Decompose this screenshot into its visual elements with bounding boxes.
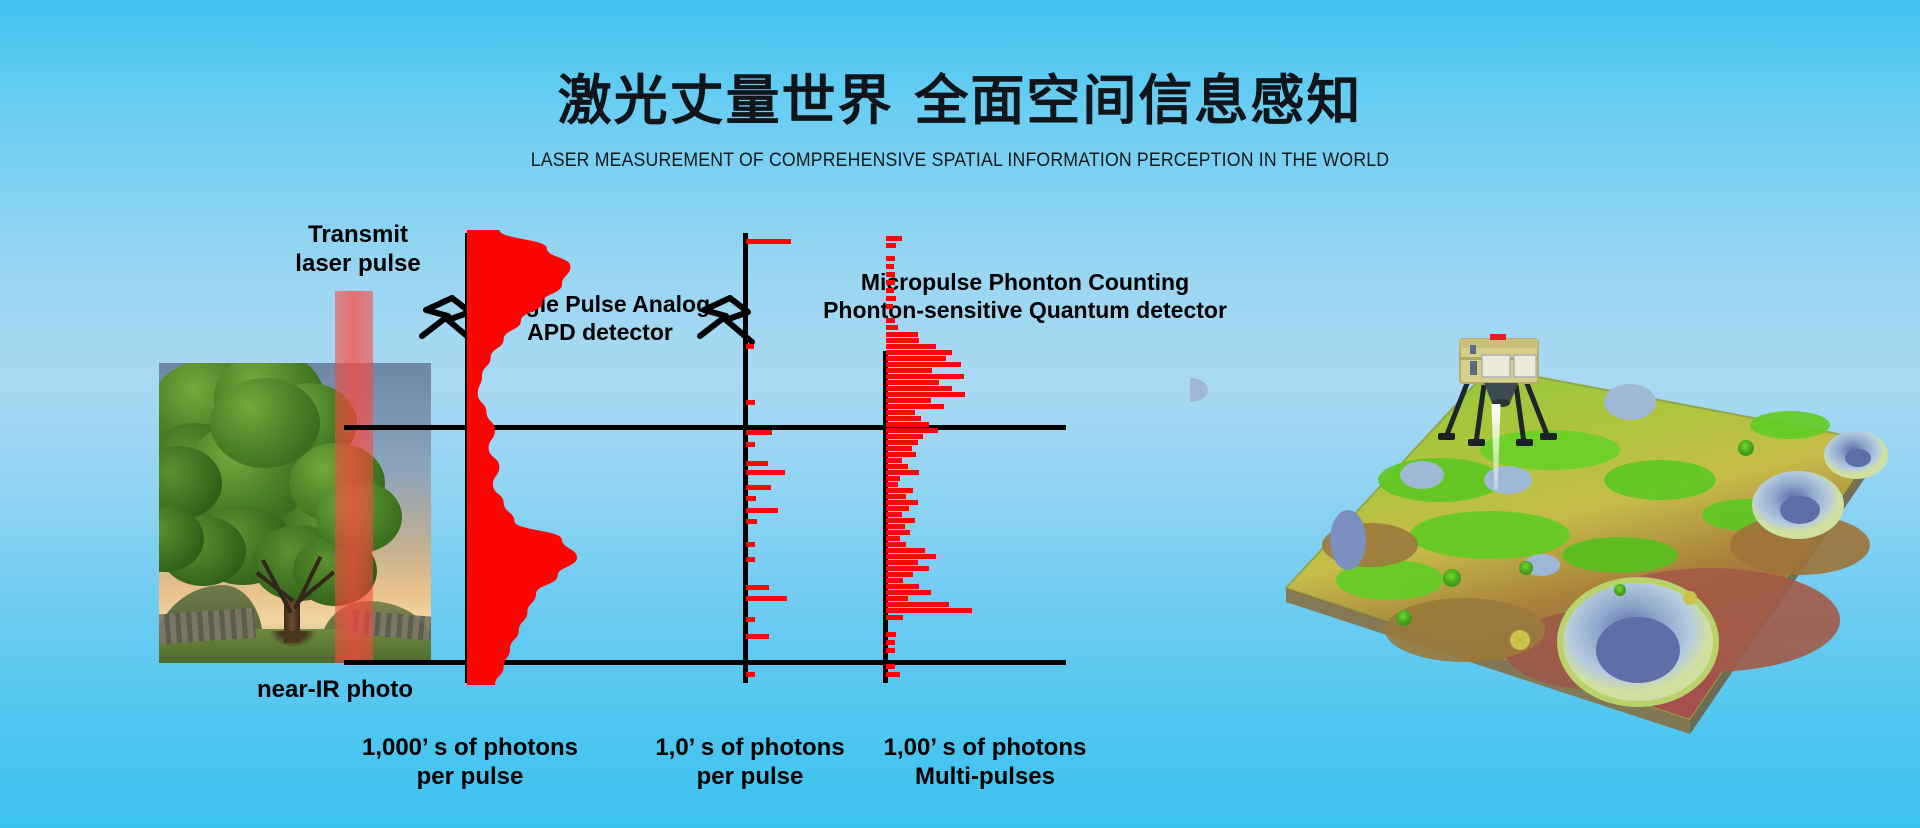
photon-bar xyxy=(746,596,787,601)
photon-bar xyxy=(886,236,902,241)
photon-bar xyxy=(886,256,895,261)
photon-bar xyxy=(886,416,921,421)
lunar-lander xyxy=(1430,333,1570,453)
photon-bar xyxy=(886,362,961,367)
photon-bar xyxy=(886,506,909,511)
photon-bar xyxy=(746,239,791,244)
photon-bar xyxy=(886,386,952,391)
photon-bar xyxy=(886,318,895,323)
photon-bar xyxy=(886,338,919,343)
photon-bar xyxy=(886,464,908,469)
photon-bar xyxy=(886,615,903,620)
photon-bar xyxy=(886,536,900,541)
photon-bar xyxy=(746,542,755,547)
photon-bar xyxy=(886,296,896,301)
photon-bars-micropulse xyxy=(886,234,1076,684)
photon-bar xyxy=(746,557,755,562)
photon-bar xyxy=(886,488,913,493)
photon-bar xyxy=(886,446,912,451)
photon-bar xyxy=(886,494,906,499)
photon-bar xyxy=(886,530,910,535)
near-ir-photo-label: near-IR photo xyxy=(235,675,435,704)
photon-bar xyxy=(886,398,931,403)
near-ir-tree-photo xyxy=(159,363,431,663)
photon-bar xyxy=(886,590,931,595)
caption-photon-low: 1,0’ s of photons per pulse xyxy=(625,733,875,792)
page-subtitle: LASER MEASUREMENT OF COMPREHENSIVE SPATI… xyxy=(67,150,1853,172)
photon-bar xyxy=(886,404,944,409)
poster-canvas: 激光丈量世界 全面空间信息感知 LASER MEASUREMENT OF COM… xyxy=(0,0,1920,828)
photon-bar xyxy=(746,400,755,405)
photon-bar xyxy=(886,560,918,565)
photon-bar xyxy=(886,602,949,607)
photon-bar xyxy=(886,640,895,645)
photon-bar xyxy=(886,476,900,481)
photon-bar xyxy=(886,288,894,293)
photon-bar xyxy=(886,264,894,269)
photon-bar xyxy=(886,500,918,505)
photon-bar xyxy=(886,584,919,589)
photon-bar xyxy=(886,572,913,577)
photon-bar xyxy=(886,482,898,487)
photon-bar xyxy=(886,434,923,439)
photon-bar xyxy=(886,392,965,397)
photon-bar xyxy=(746,430,772,435)
page-title: 激光丈量世界 全面空间信息感知 xyxy=(0,56,1920,135)
photon-bar xyxy=(746,461,768,466)
photon-bar xyxy=(886,524,905,529)
photon-bar xyxy=(886,578,903,583)
transmit-laser-beam xyxy=(335,291,373,663)
photon-bar xyxy=(746,519,757,524)
photon-bar xyxy=(746,508,778,513)
photon-bar xyxy=(886,368,932,373)
photon-bar xyxy=(886,356,946,361)
photon-bar xyxy=(746,496,756,501)
photon-bar xyxy=(886,458,902,463)
photon-bar xyxy=(886,332,918,337)
photon-bar xyxy=(886,672,900,677)
photon-bar xyxy=(746,442,755,447)
photon-bar xyxy=(886,440,918,445)
photon-bar xyxy=(886,632,896,637)
photon-bars-low-rate xyxy=(746,234,866,684)
photon-bar xyxy=(746,485,771,490)
analog-waveform-area xyxy=(467,230,577,685)
photon-bar xyxy=(886,344,936,349)
photon-bar xyxy=(746,672,755,677)
photon-bar xyxy=(886,280,895,285)
photon-bar xyxy=(886,428,938,433)
caption-micropulse: 1,00’ s of photons Multi-pulses xyxy=(860,733,1110,792)
lander-flag xyxy=(1490,334,1506,340)
transmit-laser-pulse-label: Transmit laser pulse xyxy=(258,220,458,279)
photon-bar xyxy=(886,380,939,385)
photon-bar xyxy=(746,344,754,349)
photon-bar xyxy=(886,325,898,330)
photon-bar xyxy=(886,596,908,601)
canopy-blob xyxy=(210,378,320,468)
photon-bar xyxy=(886,410,915,415)
photon-bar xyxy=(746,634,769,639)
photon-bar xyxy=(886,542,906,547)
photon-bar xyxy=(886,304,893,309)
photon-bar xyxy=(746,585,769,590)
photon-bar xyxy=(886,608,972,613)
photon-bar xyxy=(886,422,929,427)
photon-bar xyxy=(886,512,902,517)
photon-bar xyxy=(886,548,925,553)
photon-bar xyxy=(886,350,952,355)
photon-bar xyxy=(746,470,785,475)
photon-bar xyxy=(886,374,964,379)
photon-bar xyxy=(886,243,896,248)
lander-engine-nozzle xyxy=(1484,383,1518,407)
photon-bar xyxy=(746,617,755,622)
photon-bar xyxy=(886,664,895,669)
lander-body xyxy=(1460,334,1538,383)
photon-bar xyxy=(886,554,936,559)
photon-bar xyxy=(886,452,916,457)
photon-bar xyxy=(886,272,895,277)
photon-bar xyxy=(886,648,895,653)
photon-bar xyxy=(886,470,919,475)
caption-analog: 1,000’ s of photons per pulse xyxy=(330,733,610,792)
photon-bar xyxy=(886,566,929,571)
photon-bar xyxy=(886,518,915,523)
